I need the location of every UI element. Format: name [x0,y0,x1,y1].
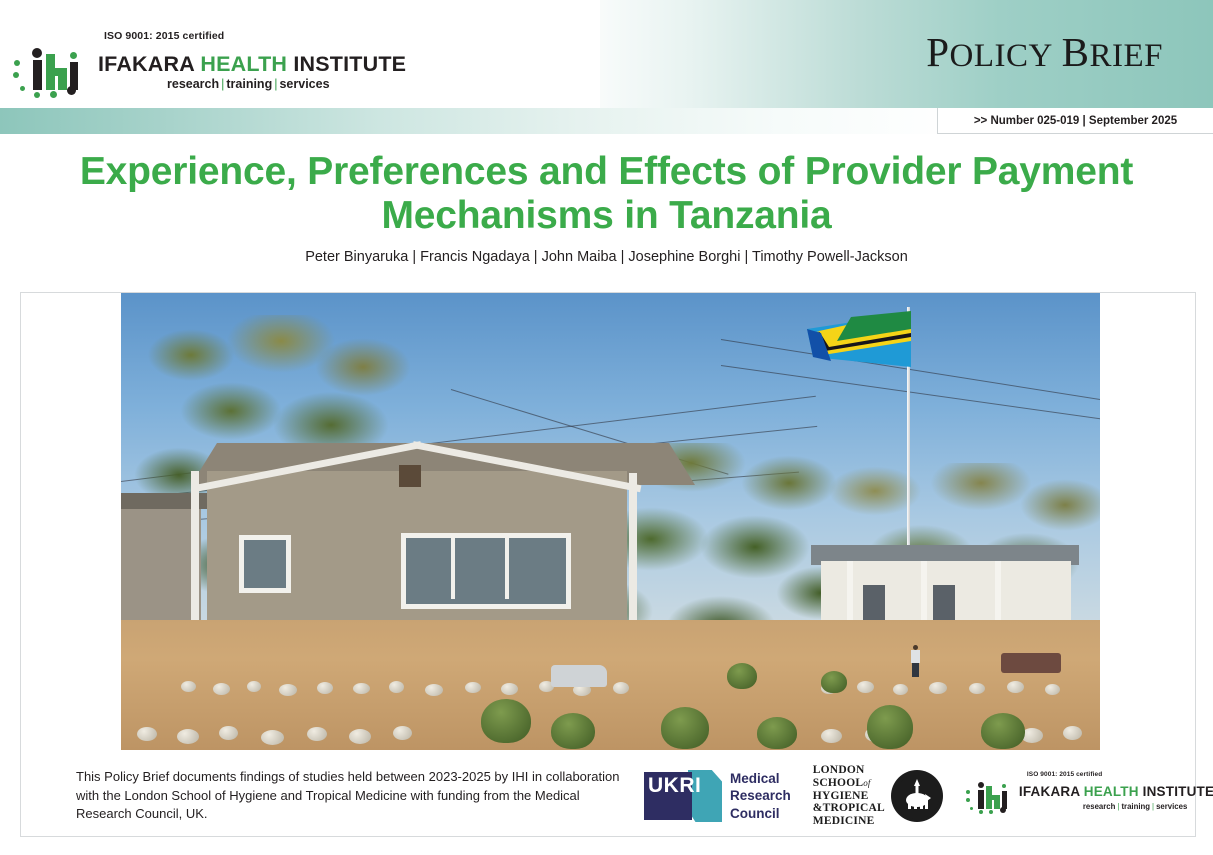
caption-and-funders-row: This Policy Brief documents findings of … [21,755,1195,837]
policy-rest: OLICY [950,38,1053,74]
person-standing [911,645,920,677]
window-small [239,535,291,593]
ihi-monogram-icon [12,46,94,100]
funder-logos: UKRI Medical Research Council LONDON SCH… [636,764,1195,828]
logo-dot [14,60,20,66]
ifakara-health-institute-logo-small: ISO 9001: 2015 certified [965,771,1170,821]
tagline-services-small: services [1156,802,1187,811]
wordmark-ifakara: IFAKARA [98,52,200,76]
mrc-name: Medical Research Council [730,770,791,822]
logo-dot [70,52,77,59]
author-list: Peter Binyaruka | Francis Ngadaya | John… [0,249,1213,265]
stone [465,682,481,693]
stone [213,683,230,695]
wordmark-ifakara-small: IFAKARA [1019,784,1084,799]
shrub [727,663,757,689]
ukri-mrc-logo: UKRI Medical Research Council [644,768,791,824]
iso-certification-label: ISO 9001: 2015 certified [104,30,224,42]
stone [393,726,412,740]
stone-border-upper [121,681,1100,697]
policy-brief-label: POLICY BRIEF [926,28,1163,76]
logo-dot [989,810,993,814]
logo-dot [50,91,57,98]
stone [969,683,985,694]
lshtm-line-3: HYGIENE [813,790,885,803]
stone [353,683,370,694]
lshtm-line-5: MEDICINE [813,815,885,828]
shrub [757,717,797,749]
stone [349,729,371,744]
mrc-line-2: Research [730,787,791,804]
lshtm-crest-svg [894,774,940,820]
brief-caption: This Policy Brief documents findings of … [76,768,636,823]
stone [307,727,327,741]
tanzania-flag [807,311,911,383]
lshtm-line-1: LONDON [813,764,885,777]
lshtm-name: LONDON SCHOOLof HYGIENE &TROPICAL MEDICI… [813,764,885,828]
logo-letter-i2 [1002,791,1007,809]
lshtm-line-2: SCHOOLof [813,777,885,790]
window-mullion [505,533,509,599]
stone [501,683,518,695]
stone [219,726,238,740]
wordmark-institute-small: INSTITUTE [1139,784,1213,799]
institute-tagline: research|training|services [167,77,330,91]
window-large [401,533,571,609]
stone [857,681,874,693]
lshtm-logo: LONDON SCHOOLof HYGIENE &TROPICAL MEDICI… [813,764,943,828]
lshtm-line-4: &TROPICAL [813,802,885,815]
institute-wordmark-small: IFAKARA HEALTH INSTITUTE [1019,784,1213,799]
tanzania-flag-svg [807,311,911,383]
ihi-monogram-icon-small [965,781,1017,815]
issue-number-text: >> Number 025-019 | September 2025 [974,115,1177,127]
parked-vehicle-right [1001,653,1061,673]
logo-letter-i [33,60,42,90]
iso-certification-label-small: ISO 9001: 2015 certified [1027,771,1102,778]
parked-vehicle-center [551,665,607,687]
cover-photo-panel: This Policy Brief documents findings of … [20,292,1196,837]
wordmark-health-small: HEALTH [1084,784,1139,799]
stone [181,681,196,692]
logo-dot [966,790,970,794]
tagline-services: services [279,77,329,91]
header-accent-band: >> Number 025-019 | September 2025 [0,108,1213,134]
stone [613,682,629,694]
person-legs [912,663,919,677]
issue-number-box: >> Number 025-019 | September 2025 [937,108,1213,134]
window-mullion [451,533,455,599]
cover-photograph [121,293,1100,750]
stone [137,727,157,741]
lshtm-line-2-of: of [863,778,870,788]
logo-letter-h-leg [994,795,1000,809]
logo-letter-h-leg [58,68,67,90]
logo-dot [979,810,983,814]
brief-initial: B [1062,29,1090,75]
page-title: Experience, Preferences and Effects of P… [0,150,1213,237]
stone [1045,684,1060,695]
stone [389,681,404,693]
logo-dot [966,798,970,802]
stone [821,729,842,743]
gable-vent [399,465,421,487]
logo-dot [32,48,42,58]
logo-dot [13,72,19,78]
shrub [551,713,595,749]
stone [1063,726,1082,740]
shrub [867,705,913,749]
logo-dot [970,807,973,810]
wordmark-institute: INSTITUTE [287,52,406,76]
stone-border-lower [121,725,1100,741]
stone [247,681,261,692]
ukri-mark-icon: UKRI [644,768,722,824]
lshtm-crest-icon [891,770,943,822]
shrub [821,671,847,693]
stone [317,682,333,694]
stone [1007,681,1024,693]
logo-letter-i [978,790,984,809]
shed-roof [121,493,213,509]
shrub [481,699,531,743]
mrc-line-3: Council [730,805,791,822]
shrub [981,713,1025,749]
logo-dot [978,782,984,788]
stone [929,682,947,694]
lshtm-line-2-text: SCHOOL [813,777,863,789]
stone [893,684,908,695]
mrc-line-1: Medical [730,770,791,787]
policy-initial: P [926,29,949,75]
ukri-monogram: UKRI [644,772,692,820]
logo-dot [20,86,25,91]
institute-wordmark: IFAKARA HEALTH INSTITUTE [98,52,406,77]
stone [261,730,284,745]
stone [177,729,199,744]
tagline-research-small: research [1083,802,1116,811]
ifakara-health-institute-logo: ISO 9001: 2015 certified IFAKARA HEALTH … [12,30,342,102]
logo-dot [1002,784,1006,788]
logo-dot [34,92,40,98]
page-header: ISO 9001: 2015 certified IFAKARA HEALTH … [0,0,1213,108]
person-body [911,650,920,663]
brief-rest: RIEF [1089,38,1163,74]
wordmark-health: HEALTH [200,52,287,76]
title-section: Experience, Preferences and Effects of P… [0,134,1213,265]
tagline-training: training [226,77,272,91]
tagline-research: research [167,77,219,91]
logo-letter-i2 [70,62,78,90]
stone [425,684,443,696]
stone [279,684,297,696]
tagline-training-small: training [1121,802,1150,811]
institute-tagline-small: research|training|services [1083,802,1187,811]
shrub [661,707,709,749]
